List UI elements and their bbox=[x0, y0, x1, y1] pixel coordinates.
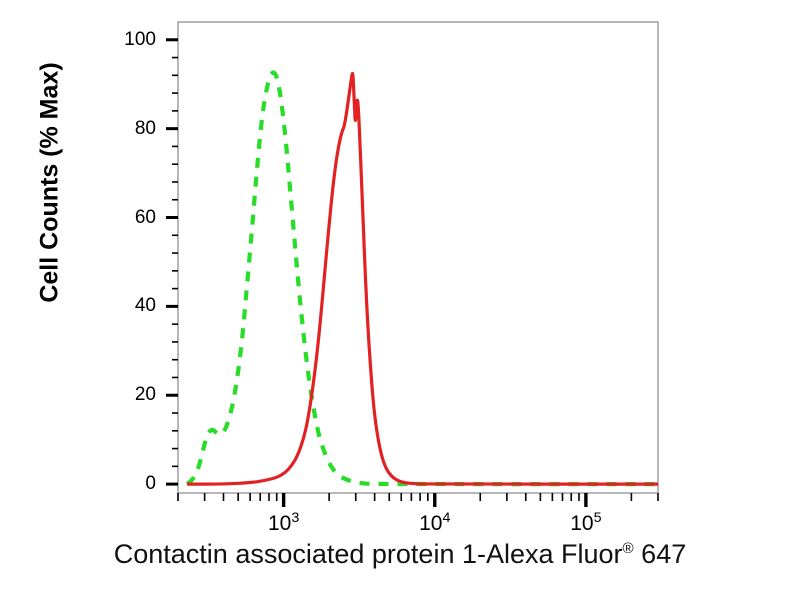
y-axis-tick-label: 40 bbox=[110, 295, 156, 317]
figure-caption: Contactin associated protein 1-Alexa Flu… bbox=[0, 539, 800, 570]
flow-cytometry-histogram-figure: 020406080100 103104105 Cell Counts (% Ma… bbox=[0, 0, 800, 600]
y-axis-tick-label: 20 bbox=[110, 384, 156, 406]
y-axis-tick-label: 100 bbox=[110, 29, 156, 51]
x-axis-tick-label: 104 bbox=[400, 512, 470, 536]
caption-main-text: Contactin associated protein 1-Alexa Flu… bbox=[114, 539, 623, 569]
caption-tail-text: 647 bbox=[634, 539, 687, 569]
histogram-curve bbox=[187, 73, 658, 485]
y-axis-tick-label: 0 bbox=[110, 473, 156, 495]
y-axis-tick-label: 60 bbox=[110, 207, 156, 229]
y-axis-title: Cell Counts (% Max) bbox=[36, 13, 65, 353]
x-axis-ticks bbox=[178, 493, 658, 507]
x-axis-tick-label: 103 bbox=[249, 512, 319, 536]
y-axis-ticks bbox=[166, 40, 178, 484]
x-axis-tick-label: 105 bbox=[551, 512, 621, 536]
registered-trademark-symbol: ® bbox=[623, 540, 634, 557]
data-series-group bbox=[187, 73, 658, 485]
y-axis-tick-label: 80 bbox=[110, 118, 156, 140]
histogram-curve bbox=[187, 74, 658, 485]
